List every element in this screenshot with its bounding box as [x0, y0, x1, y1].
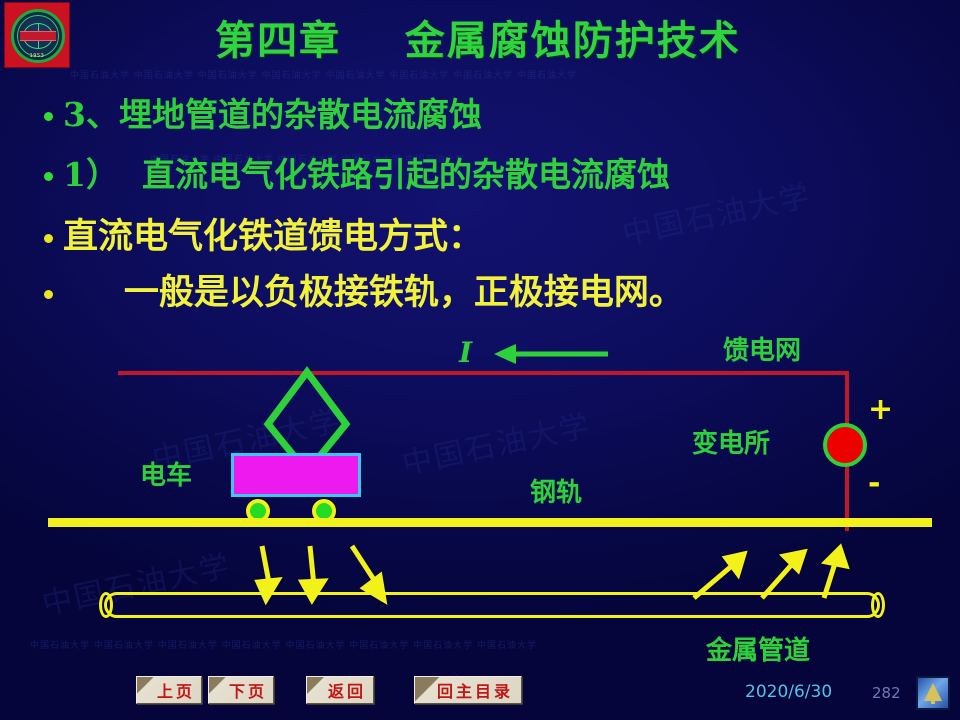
- feeder-network-label: 馈电网: [723, 330, 801, 367]
- metal-pipeline: [104, 592, 880, 618]
- positive-terminal-label: +: [868, 392, 893, 427]
- university-logo: 1953: [4, 2, 70, 68]
- rail-label: 钢轨: [530, 472, 582, 509]
- bullet-dot-icon: [44, 234, 53, 243]
- bullet-text: 1） 直流电气化铁路引起的杂散电流腐蚀: [63, 148, 670, 196]
- bullet-dot-icon: [44, 112, 53, 121]
- footer-page-number: 282: [872, 684, 901, 702]
- nav-main-menu-button[interactable]: 回主目录: [414, 676, 522, 704]
- footer-bar: 上页 下页 返回 回主目录 2020/6/30 282: [0, 668, 960, 720]
- stray-current-diagram: I 馈电网 电车 变电所 + - 钢轨: [0, 310, 960, 660]
- tram-label: 电车: [140, 455, 192, 492]
- negative-terminal-label: -: [868, 466, 880, 501]
- metal-pipeline-label: 金属管道: [706, 630, 810, 667]
- slide-canvas: 中国石油大学 中国石油大学 中国石油大学 中国石油大学 中国石油大学 中国石油大…: [0, 0, 960, 720]
- nav-prev-page-button[interactable]: 上页: [136, 676, 202, 704]
- pipeline-cap-right: [871, 592, 885, 618]
- logo-name-bar: [20, 31, 56, 41]
- nav-next-page-button[interactable]: 下页: [208, 676, 274, 704]
- bullet-item-3: 直流电气化铁道馈电方式：: [44, 208, 483, 259]
- nav-back-button[interactable]: 返回: [306, 676, 374, 704]
- decorative-icon-stem: [931, 696, 935, 704]
- pipeline-cap-left: [99, 592, 113, 618]
- bullet-text: 一般是以负极接铁轨，正极接电网。: [63, 264, 684, 315]
- bullet-dot-icon: [44, 172, 53, 181]
- bullet-text: 3、埋地管道的杂散电流腐蚀: [63, 88, 482, 136]
- steel-rail: [48, 518, 932, 527]
- current-symbol-label: I: [459, 336, 472, 369]
- footer-date: 2020/6/30: [745, 682, 832, 702]
- logo-year: 1953: [5, 53, 69, 59]
- tram-body: [231, 453, 361, 497]
- watermark-strip: 中国石油大学 中国石油大学 中国石油大学 中国石油大学 中国石油大学 中国石油大…: [70, 68, 950, 81]
- feeder-wire: [118, 371, 848, 375]
- current-direction-arrow-icon: [490, 342, 610, 366]
- bullet-item-1: 3、埋地管道的杂散电流腐蚀: [44, 88, 482, 136]
- page-title: 第四章 金属腐蚀防护技术: [215, 8, 875, 66]
- substation-label: 变电所: [692, 423, 770, 460]
- bullet-item-4: 一般是以负极接铁轨，正极接电网。: [44, 264, 684, 315]
- bullet-text: 直流电气化铁道馈电方式：: [63, 208, 483, 259]
- bullet-item-2: 1） 直流电气化铁路引起的杂散电流腐蚀: [44, 148, 670, 196]
- substation-node: [823, 423, 867, 467]
- decorative-icon[interactable]: [916, 676, 950, 710]
- bullet-dot-icon: [44, 290, 53, 299]
